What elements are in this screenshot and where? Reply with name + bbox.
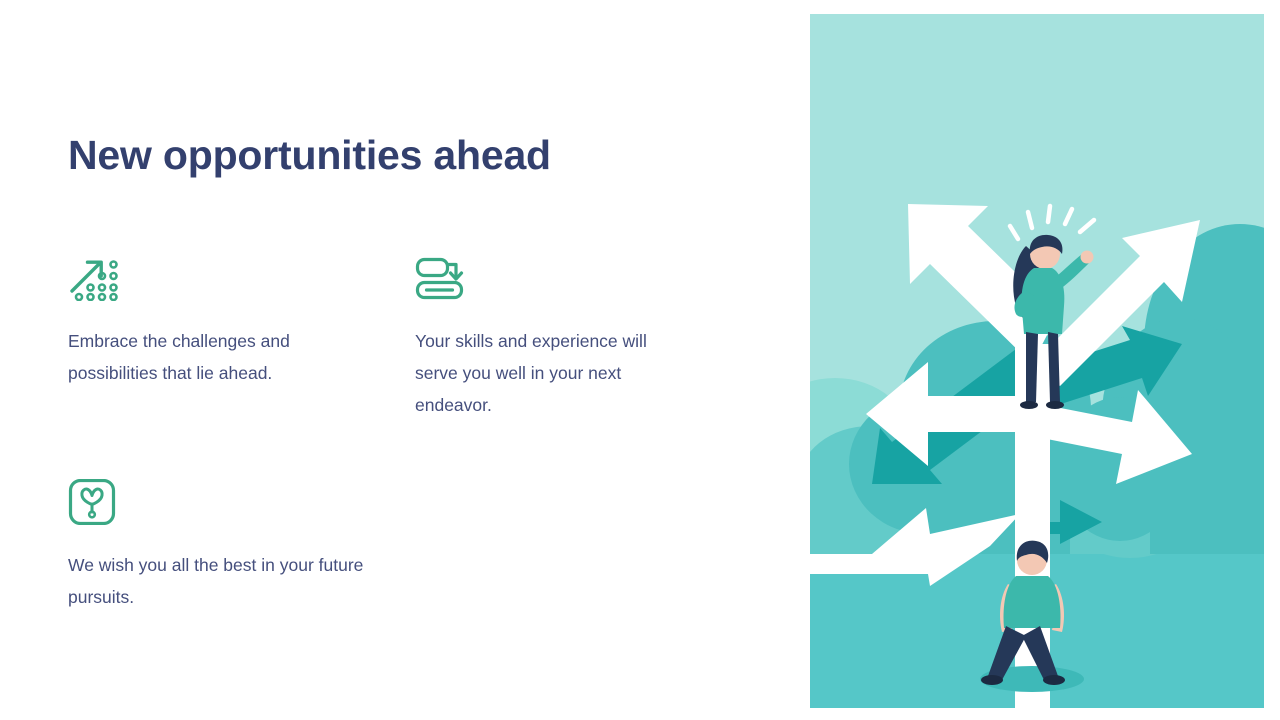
slide-root: New opportunities ahead	[0, 0, 1280, 720]
content-column: New opportunities ahead	[68, 0, 768, 720]
man-shoe-right	[1043, 675, 1065, 685]
transfer-down-icon	[415, 255, 715, 301]
feature-text-1: Embrace the challenges and possibilities…	[68, 325, 353, 389]
man-top	[1004, 576, 1061, 628]
growth-arrow-dots-icon	[68, 255, 368, 301]
feature-item-2: Your skills and experience will serve yo…	[415, 255, 715, 439]
feature-item-1: Embrace the challenges and possibilities…	[68, 255, 368, 407]
woman-leg-right	[1048, 332, 1060, 402]
branching-heart-square-icon	[68, 479, 368, 525]
crossroads-choices-illustration	[810, 14, 1264, 708]
woman-shoe-left	[1020, 401, 1038, 409]
page-title: New opportunities ahead	[68, 131, 551, 180]
feature-text-2: Your skills and experience will serve yo…	[415, 325, 693, 421]
feature-item-3: We wish you all the best in your future …	[68, 479, 368, 631]
feature-text-3: We wish you all the best in your future …	[68, 549, 368, 613]
man-shoe-left	[981, 675, 1003, 685]
woman-hand	[1081, 251, 1094, 264]
woman-shoe-right	[1046, 401, 1064, 409]
woman-leg-left	[1026, 332, 1038, 402]
